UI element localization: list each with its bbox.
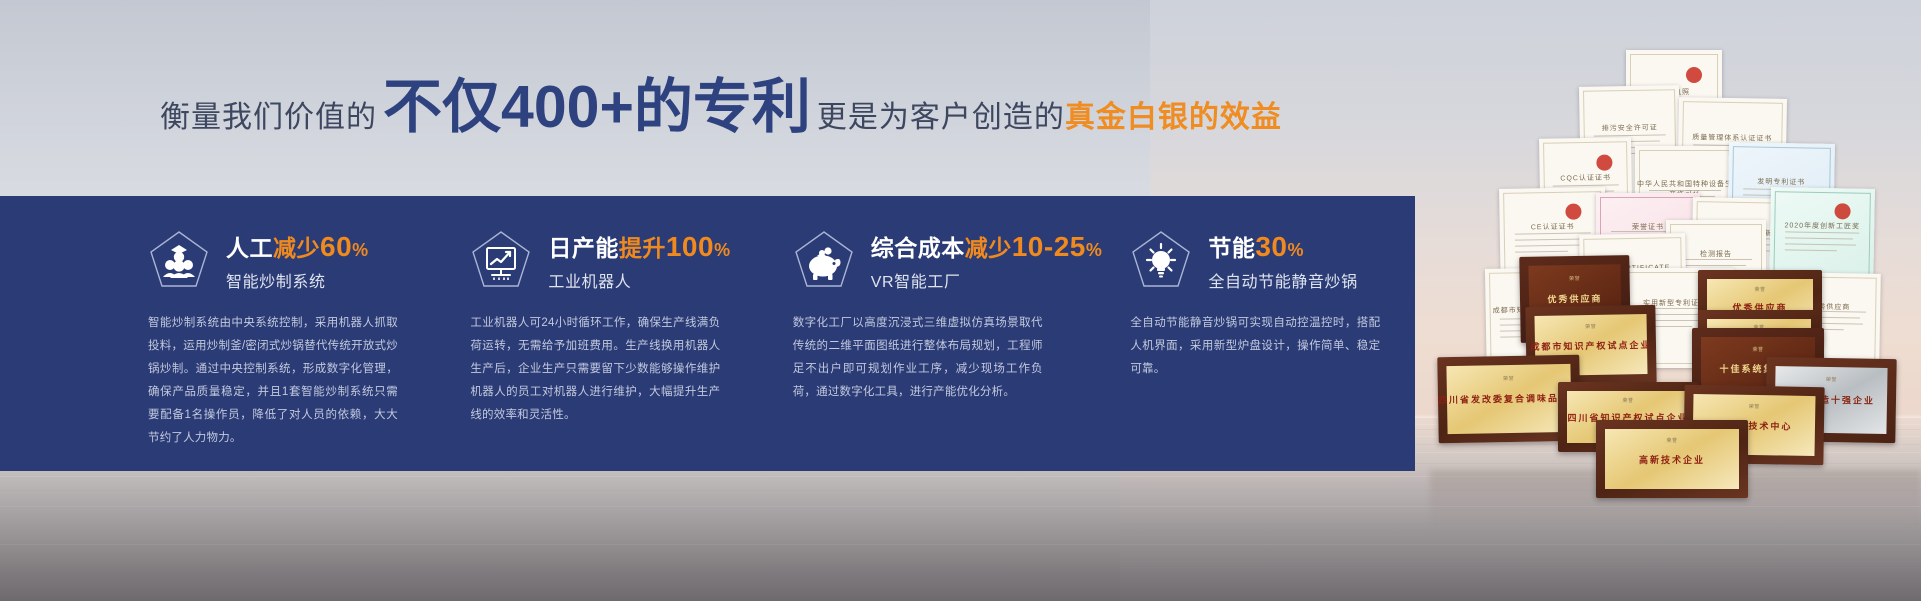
page-title: 衡量我们价值的 不仅400+的专利 更是为客户创造的 真金白银的效益: [160, 78, 1282, 138]
feature-title-unit: %: [714, 240, 731, 260]
feature-header: 日产能提升100%工业机器人: [470, 230, 764, 294]
feature-description: 全自动节能静音炒锅可实现自动控温控时，搭配人机界面，采用新型炉盘设计，操作简单、…: [1130, 312, 1380, 381]
feature-title-plain: 日产能: [548, 235, 619, 261]
feature-header: 人工减少60%智能炒制系统: [148, 230, 442, 294]
plaque-subtitle: 荣誉: [1692, 346, 1824, 353]
certificate-wall: 荣誉优秀供应商营业执照排污安全许可证质量管理体系认证证书CQC认证证书中华人民共…: [1430, 38, 1921, 498]
feature-title-accent: 提升: [619, 235, 666, 261]
feature-title-plain: 综合成本: [871, 235, 965, 261]
piggy-bank-icon: [793, 229, 855, 295]
feature-title-number: 60: [320, 231, 352, 262]
certificate-title: CE认证证书: [1500, 221, 1606, 233]
feature-title-plain: 人工: [226, 235, 273, 261]
sea-ripple-line: [0, 544, 1921, 545]
feature-title-accent: 减少: [965, 235, 1012, 261]
certificate-seal: [1565, 203, 1581, 219]
feature-title: 综合成本减少10-25%: [871, 232, 1103, 261]
feature-list: 人工减少60%智能炒制系统智能炒制系统由中央系统控制，采用机器人抓取投料，运用炒…: [148, 196, 1415, 471]
feature-title-number: 100: [666, 231, 714, 262]
feature-panel: 人工减少60%智能炒制系统智能炒制系统由中央系统控制，采用机器人抓取投料，运用炒…: [0, 196, 1415, 471]
certificate-title: 排污安全许可证: [1580, 122, 1680, 134]
certificate-title: 2020年度创新工匠奖: [1770, 220, 1874, 232]
feature-description: 工业机器人可24小时循环工作，确保生产线满负荷运转，无需给予加班费用。生产线换用…: [470, 312, 720, 427]
feature-title: 节能30%: [1208, 232, 1357, 261]
feature-title: 日产能提升100%: [548, 232, 730, 261]
feature-item-2: 日产能提升100%工业机器人工业机器人可24小时循环工作，确保生产线满负荷运转，…: [470, 196, 792, 471]
headline-middle: 更是为客户创造的: [817, 92, 1065, 136]
certificate-seal: [1596, 154, 1612, 170]
feature-subtitle: VR智能工厂: [871, 268, 1103, 292]
certificate-title: CQC认证证书: [1540, 173, 1632, 185]
feature-title-number: 30: [1255, 231, 1287, 262]
banner-stage: 荣誉优秀供应商营业执照排污安全许可证质量管理体系认证证书CQC认证证书中华人民共…: [0, 0, 1921, 601]
feature-text: 日产能提升100%工业机器人: [548, 232, 730, 292]
feature-item-1: 人工减少60%智能炒制系统智能炒制系统由中央系统控制，采用机器人抓取投料，运用炒…: [148, 196, 470, 471]
feature-header: 综合成本减少10-25%VR智能工厂: [793, 230, 1103, 294]
award-plaque: 荣誉高新技术企业: [1596, 420, 1748, 498]
headline-highlight: 真金白银的效益: [1065, 92, 1282, 136]
plaque-title: 优秀供应商: [1520, 291, 1630, 306]
feature-title-unit: %: [1086, 240, 1103, 260]
plaque-subtitle: 荣誉: [1698, 286, 1822, 293]
certificate-seal: [1686, 67, 1702, 83]
headline-lead: 衡量我们价值的: [160, 92, 377, 136]
feature-title-unit: %: [1288, 240, 1305, 260]
feature-item-4: 节能30%全自动节能静音炒锅全自动节能静音炒锅可实现自动控温控时，搭配人机界面，…: [1130, 196, 1415, 471]
feature-item-3: 综合成本减少10-25%VR智能工厂数字化工厂以高度沉浸式三维虚拟仿真场景取代传…: [793, 196, 1131, 471]
certificate-lines: [1784, 231, 1859, 256]
feature-title-number: 10-25: [1012, 231, 1086, 262]
feature-title-plain: 节能: [1208, 235, 1255, 261]
light-bulb-icon: [1130, 229, 1192, 295]
feature-description: 数字化工厂以高度沉浸式三维虚拟仿真场景取代传统的二维平面图纸进行整体布局规划，工…: [793, 312, 1043, 404]
chart-board-icon: [470, 229, 532, 295]
feature-text: 综合成本减少10-25%VR智能工厂: [871, 232, 1103, 292]
feature-subtitle: 工业机器人: [548, 268, 730, 292]
feature-description: 智能炒制系统由中央系统控制，采用机器人抓取投料，运用炒制釜/密闭式炒锅替代传统开…: [148, 312, 398, 450]
headline-emphasis: 不仅400+的专利: [383, 78, 811, 137]
people-group-icon: [148, 229, 210, 295]
feature-title: 人工减少60%: [226, 232, 369, 261]
feature-title-accent: 减少: [273, 235, 320, 261]
feature-header: 节能30%全自动节能静音炒锅: [1130, 230, 1387, 294]
plaque-subtitle: 荣誉: [1558, 397, 1698, 404]
feature-text: 节能30%全自动节能静音炒锅: [1208, 232, 1357, 292]
feature-title-unit: %: [352, 240, 369, 260]
plaque-subtitle: 荣誉: [1596, 437, 1748, 444]
feature-subtitle: 全自动节能静音炒锅: [1208, 268, 1357, 292]
plaque-title: 成都市知识产权试点企业: [1526, 338, 1656, 353]
feature-subtitle: 智能炒制系统: [226, 268, 369, 292]
sea-ripple-line: [0, 566, 1921, 567]
feature-text: 人工减少60%智能炒制系统: [226, 232, 369, 292]
plaque-title: 高新技术企业: [1596, 453, 1748, 466]
